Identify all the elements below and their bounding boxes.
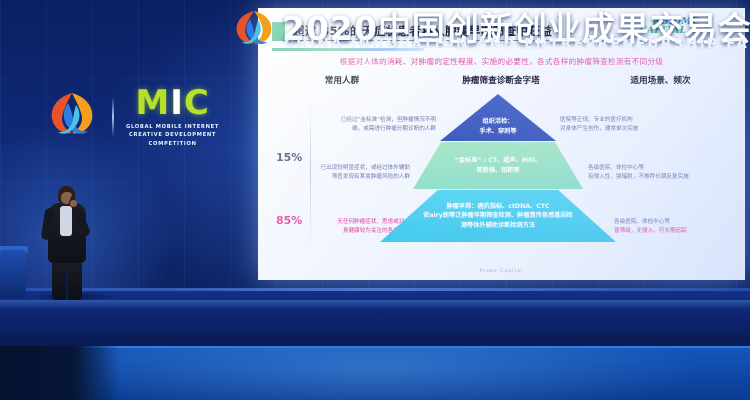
tier-bottom-label-line-3: 测等体外辅助诊断检测方法 bbox=[417, 221, 579, 230]
stage-deck-light-strip bbox=[0, 300, 750, 309]
slide-column-headers: 常用人群 肿瘤筛查诊断金字塔 适用场景、频次 bbox=[258, 74, 745, 86]
right-text-tier-top-line-2: 对身体产生创伤，通常单次实施 bbox=[560, 125, 690, 134]
column-header-pyramid: 肿瘤筛查诊断金字塔 bbox=[426, 74, 576, 86]
swirl-emblem-icon bbox=[44, 89, 100, 145]
right-text-tier-bottom-line-1: 各级医院、体检中心等 bbox=[614, 218, 744, 227]
pyramid-tier-middle: “金标准” : CT、超声、MRI、 胃肠镜、钼靶等 bbox=[413, 142, 583, 189]
slide-footer: Probe Capital bbox=[258, 269, 745, 274]
right-text-tier-middle-line-1: 各级医院、体检中心等 bbox=[588, 164, 728, 173]
right-text-tier-top-line-1: 医院等正规、专业的医疗机构 bbox=[560, 116, 690, 125]
logo-divider bbox=[112, 97, 114, 137]
speaker-shirt bbox=[60, 206, 72, 236]
slide-subtitle: 根据对人体的消耗、对肿瘤的定性程度、实施的必要性，各式各样的肿瘤筛查检测有不同分… bbox=[258, 56, 745, 67]
mic-subtitle-line-1: GLOBAL MOBILE INTERNET bbox=[126, 123, 219, 131]
left-text-tier-top-line-1: 已经过“金标准”检测，但肿瘤情况不明 bbox=[314, 116, 436, 125]
right-text-tier-middle-line-2: 有侵入性、强辐射，不推荐长期反复实施 bbox=[588, 173, 728, 182]
left-text-tier-middle-line-1: 已出现较明显症状，或经过体外辅助 bbox=[314, 164, 410, 173]
mic-competition-logo: MIC GLOBAL MOBILE INTERNET CREATIVE DEVE… bbox=[44, 86, 240, 148]
banner-left-shadow bbox=[0, 346, 120, 400]
speaker-hand bbox=[70, 200, 77, 207]
tier-middle-label-line-2: 胃肠镜、钼靶等 bbox=[449, 166, 547, 175]
screening-pyramid-diagram: 15% 85% 已经过“金标准”检测，但肿瘤情况不明 确，或需进行肿瘤分期诊断的… bbox=[258, 92, 745, 252]
banner-english-title: CHINA INNOVATION AND ENTREPRENEURSHIP FA… bbox=[284, 36, 750, 52]
column-header-population: 常用人群 bbox=[258, 74, 426, 86]
pyramid-tier-top: 组织活检： 手术、穿刺等 bbox=[440, 94, 556, 141]
tier-top-label-line-1: 组织活检： bbox=[473, 117, 522, 126]
percent-divider-line bbox=[310, 96, 311, 246]
mic-wordmark: MIC bbox=[135, 86, 209, 120]
mic-subtitle-line-3: COMPETITION bbox=[126, 140, 219, 148]
speaker-figure bbox=[42, 186, 104, 298]
percent-label-85: 85% bbox=[276, 214, 302, 227]
right-text-tier-top: 医院等正规、专业的医疗机构 对身体产生创伤，通常单次实施 bbox=[560, 116, 690, 134]
tier-top-label-line-2: 手术、穿刺等 bbox=[473, 127, 522, 136]
percent-label-15: 15% bbox=[276, 151, 302, 164]
speaker-leg-gap bbox=[66, 272, 68, 300]
left-text-tier-top-line-2: 确，或需进行肿瘤分期诊断的人群 bbox=[314, 125, 436, 134]
right-text-tier-bottom: 各级医院、体检中心等 普筛级，无侵入，可长期追踪 bbox=[614, 218, 744, 236]
stage-prop-stand bbox=[0, 250, 26, 298]
tier-middle-label-line-1: “金标准” : CT、超声、MRI、 bbox=[449, 156, 547, 165]
right-text-tier-middle: 各级医院、体检中心等 有侵入性、强辐射，不推荐长期反复实施 bbox=[588, 164, 728, 182]
left-text-tier-bottom-line-1: 无任何肿瘤症状、思虑或对自 bbox=[314, 218, 410, 227]
right-text-tier-bottom-line-2: 普筛级，无侵入，可长期追踪 bbox=[614, 227, 744, 236]
column-header-scenario: 适用场景、频次 bbox=[576, 74, 745, 86]
conference-stage-photo: MIC GLOBAL MOBILE INTERNET CREATIVE DEVE… bbox=[0, 0, 750, 400]
tier-bottom-label-line-2: 安airy朗等泛肿瘤早期筛查检测、肿瘤遗传易感基因检 bbox=[417, 211, 579, 220]
tier-bottom-label-line-1: 肿瘤早筛：癌抗指标、ctDNA、CTC bbox=[417, 202, 579, 211]
left-text-tier-middle: 已出现较明显症状，或经过体外辅助 筛查发现有某类肿瘤风险的人群 bbox=[314, 164, 410, 182]
left-text-tier-middle-line-2: 筛查发现有某类肿瘤风险的人群 bbox=[314, 173, 410, 182]
left-text-tier-top: 已经过“金标准”检测，但肿瘤情况不明 确，或需进行肿瘤分期诊断的人群 bbox=[314, 116, 436, 134]
mic-subtitle-line-2: CREATIVE DEVELOPMENT bbox=[126, 131, 219, 139]
pyramid-tier-bottom: 肿瘤早筛：癌抗指标、ctDNA、CTC 安airy朗等泛肿瘤早期筛查检测、肿瘤遗… bbox=[380, 190, 616, 242]
banner-swirl-emblem-icon bbox=[232, 8, 276, 50]
